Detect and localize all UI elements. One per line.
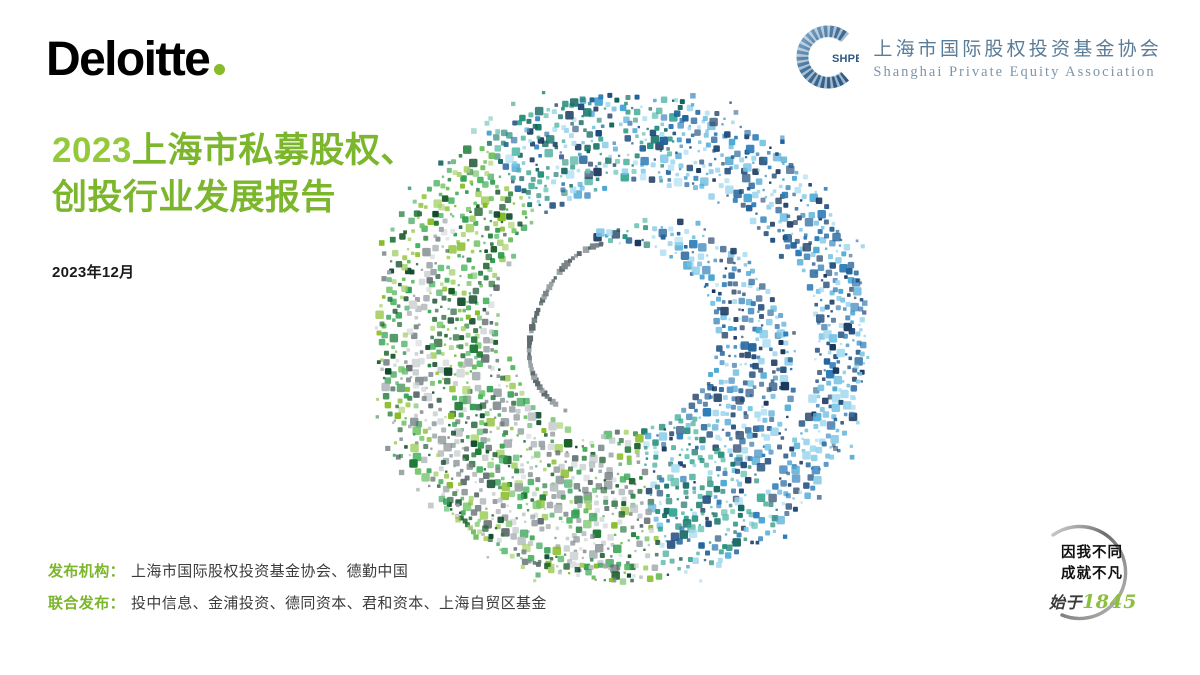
shpea-emblem-icon: SHPEA — [793, 24, 859, 90]
shpea-logo: SHPEA 上海市国际股权投资基金协会 Shanghai Private Equ… — [793, 24, 1162, 90]
slogan-line-1: 因我不同 — [1016, 543, 1168, 564]
footer-row: 联合发布： 投中信息、金浦投资、德同资本、君和资本、上海自贸区基金 — [48, 592, 547, 613]
footer-label-copublisher: 联合发布： — [48, 592, 125, 613]
shpea-text-block: 上海市国际股权投资基金协会 Shanghai Private Equity As… — [873, 34, 1162, 81]
footer-row: 发布机构： 上海市国际股权投资基金协会、德勤中国 — [48, 560, 547, 581]
deloitte-slogan-mark: 因我不同 成就不凡 始于1845 — [1016, 523, 1178, 627]
footer-value-publisher: 上海市国际股权投资基金协会、德勤中国 — [131, 560, 408, 581]
deloitte-logo: Deloitte — [46, 36, 225, 84]
slogan-since: 始于1845 — [1022, 589, 1164, 613]
deloitte-green-dot-icon — [214, 64, 225, 75]
shpea-name-en: Shanghai Private Equity Association — [873, 64, 1162, 81]
slogan-text-block: 因我不同 成就不凡 — [1016, 543, 1168, 584]
footer-value-copublisher: 投中信息、金浦投资、德同资本、君和资本、上海自贸区基金 — [131, 592, 547, 613]
slogan-since-cn: 始于 — [1049, 593, 1082, 612]
slide-root: Deloitte 2023上海市私募股权、 创投行业发展报告 2023年12月 — [0, 0, 1200, 675]
footer-label-publisher: 发布机构： — [48, 560, 125, 581]
publisher-footer: 发布机构： 上海市国际股权投资基金协会、德勤中国 联合发布： 投中信息、金浦投资… — [48, 560, 547, 613]
deloitte-wordmark: Deloitte — [46, 36, 209, 84]
slogan-line-2: 成就不凡 — [1016, 564, 1168, 585]
dotted-ring-graphic — [372, 88, 872, 588]
svg-text:SHPEA: SHPEA — [832, 53, 859, 65]
shpea-name-cn: 上海市国际股权投资基金协会 — [873, 34, 1162, 61]
document-date: 2023年12月 — [52, 261, 134, 282]
slogan-since-year: 1845 — [1082, 591, 1137, 613]
title-year: 2023 — [52, 131, 132, 170]
